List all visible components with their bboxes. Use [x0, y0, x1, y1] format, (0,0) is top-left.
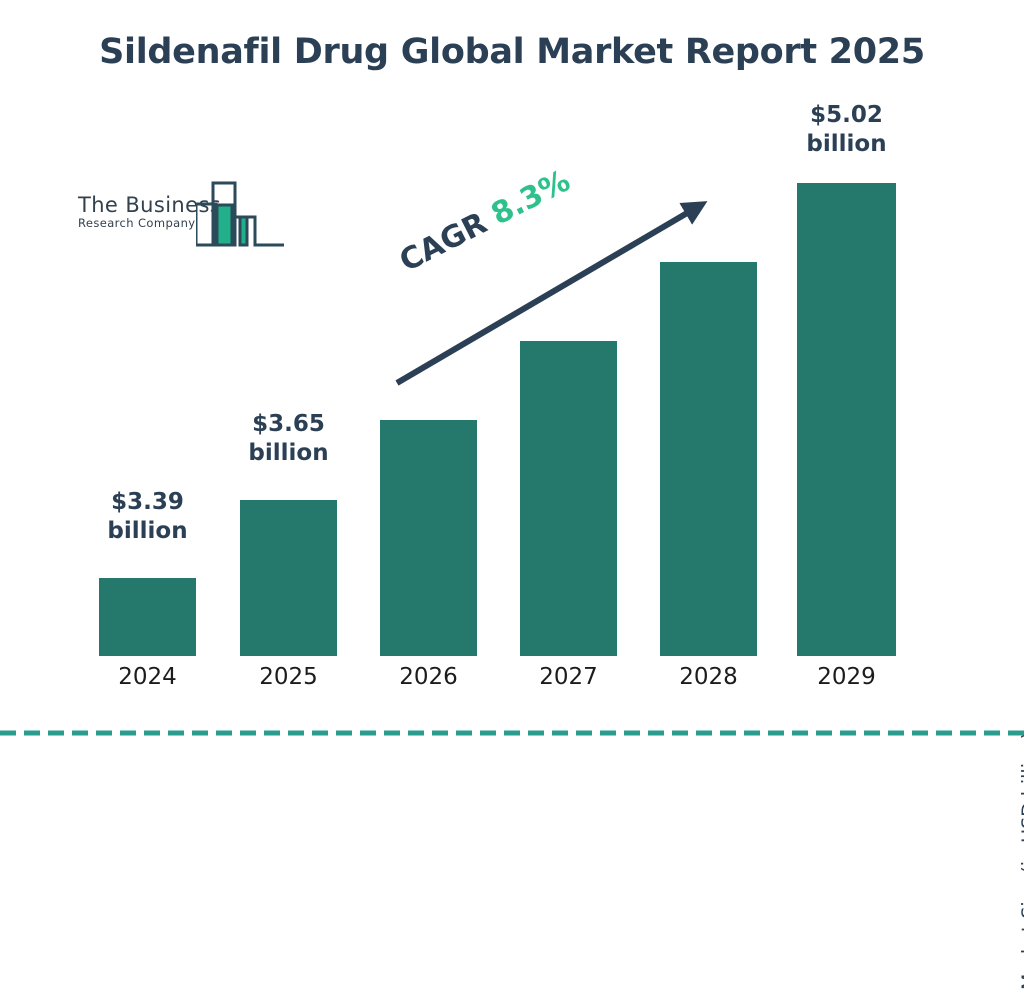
x-tick-2029: 2029	[797, 664, 896, 690]
bar-value-label-2024: $3.39 billion	[82, 488, 213, 546]
bar-2025	[240, 500, 337, 656]
bar-2029	[797, 183, 896, 656]
cagr-annotation-value: 8.3%	[486, 163, 576, 232]
bar-chart-logo-mark	[196, 178, 286, 250]
page-title: Sildenafil Drug Global Market Report 202…	[0, 32, 1024, 72]
bar-2028	[660, 262, 757, 656]
cagr-annotation-label: CAGR	[394, 206, 493, 279]
bar-2026	[380, 420, 477, 656]
bar-2024	[99, 578, 196, 656]
chart-canvas: Sildenafil Drug Global Market Report 202…	[0, 0, 1024, 768]
x-tick-2024: 2024	[99, 664, 196, 690]
x-tick-2028: 2028	[660, 664, 757, 690]
x-tick-2025: 2025	[240, 664, 337, 690]
x-tick-2026: 2026	[380, 664, 477, 690]
bar-2027	[520, 341, 617, 656]
bar-value-label-2025: $3.65 billion	[223, 410, 354, 468]
x-tick-2027: 2027	[520, 664, 617, 690]
cagr-annotation: CAGR8.3%	[394, 163, 576, 279]
company-logo: The Business Research Company	[78, 178, 283, 250]
y-axis-title: Market Size (in USD billion)	[1018, 660, 1024, 990]
bar-value-label-2029: $5.02 billion	[781, 101, 912, 159]
